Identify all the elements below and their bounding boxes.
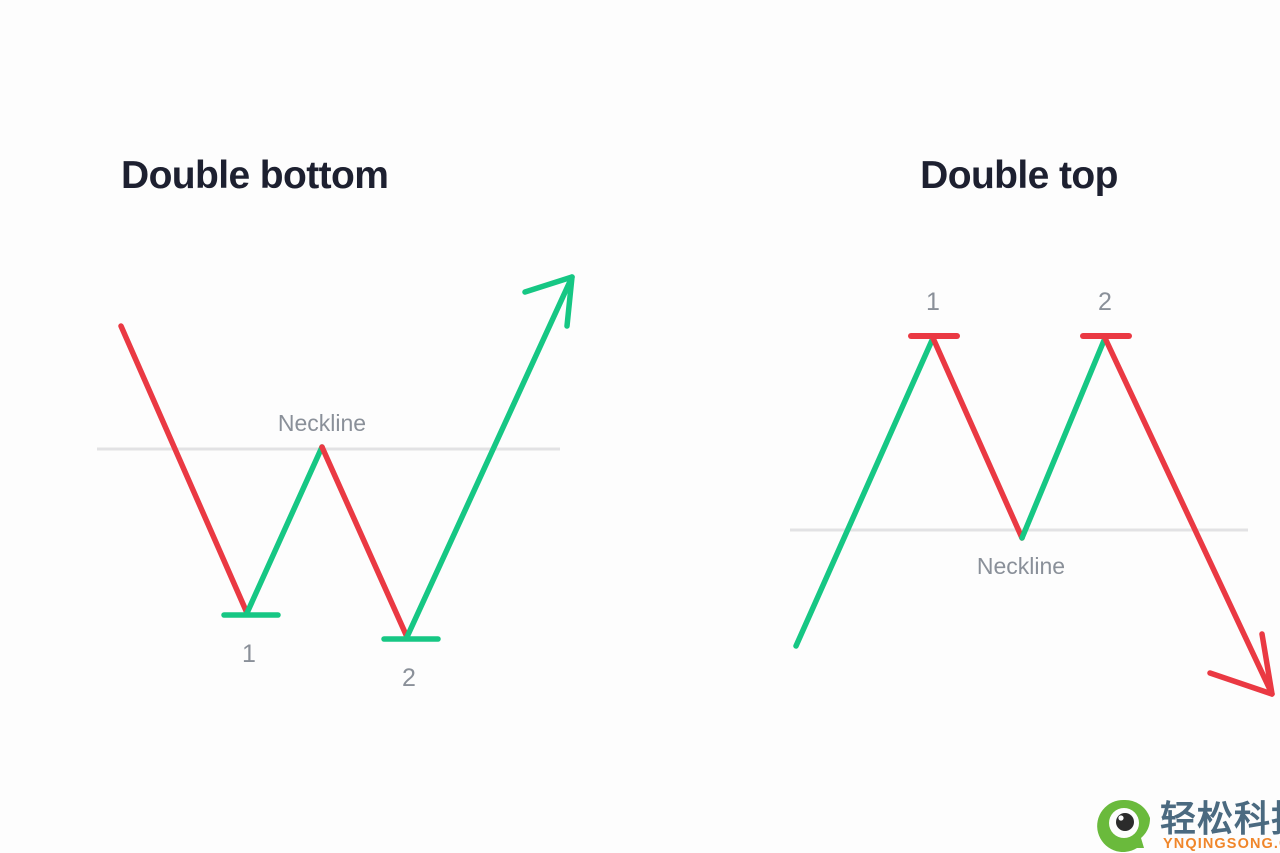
point-label-left-1: 1 — [242, 640, 256, 668]
watermark: 轻松科技 YNQINGSONG.COM — [1097, 798, 1280, 852]
point-label-left-2: 2 — [402, 664, 416, 692]
watermark-brand-cn: 轻松科技 — [1160, 798, 1280, 839]
background — [0, 0, 1280, 853]
chart-patterns-figure: Double bottom Neckline 1 2 Double top Ne… — [0, 0, 1280, 853]
eye-logo-icon — [1097, 800, 1150, 852]
point-label-right-1: 1 — [926, 288, 940, 316]
neckline-label-right: Neckline — [977, 553, 1065, 579]
panel-title-double-bottom: Double bottom — [121, 154, 388, 197]
diagram-canvas: Double bottom Neckline 1 2 Double top Ne… — [0, 0, 1280, 853]
point-label-right-2: 2 — [1098, 288, 1112, 316]
panel-title-double-top: Double top — [920, 154, 1118, 197]
watermark-domain: YNQINGSONG.COM — [1163, 836, 1280, 852]
neckline-label-left: Neckline — [278, 410, 366, 436]
